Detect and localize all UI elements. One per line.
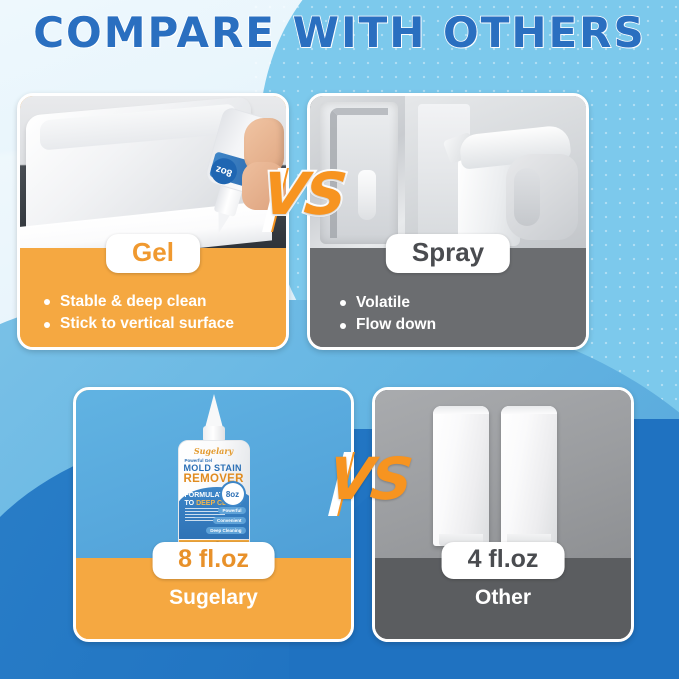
vs-badge-top: VS xyxy=(260,165,347,223)
list-item: Flow down xyxy=(338,314,436,336)
sugelary-photo: Sugelary Powerful Gel MOLD STAIN REMOVER… xyxy=(76,390,351,558)
gel-bullet-list: Stable & deep clean Stick to vertical su… xyxy=(42,291,234,336)
white-tube-shape xyxy=(433,406,489,546)
page-title: COMPARE WITH OTHERS xyxy=(0,8,679,57)
bottle-tip-shape xyxy=(205,394,223,428)
list-item: Stick to vertical surface xyxy=(42,313,234,335)
card-gel: 8oz Gel Stable & deep clean Stick to ver… xyxy=(17,93,289,350)
card-other: 4 fl.oz Other xyxy=(372,387,634,642)
sugelary-brand-label: Sugelary xyxy=(76,586,351,610)
bottle-tag: Convenient xyxy=(213,517,246,524)
bottle-claim-b: TO xyxy=(185,500,195,507)
spray-label-pill: Spray xyxy=(386,234,510,273)
bottle-oz-badge: 8oz xyxy=(222,483,244,505)
card-sugelary: Sugelary Powerful Gel MOLD STAIN REMOVER… xyxy=(73,387,354,642)
bottle-tag: Deep Cleaning xyxy=(206,527,245,534)
liquid-drip-shape xyxy=(358,170,376,220)
gel-photo: 8oz xyxy=(20,96,286,248)
white-tube-shape xyxy=(501,406,557,546)
infographic-stage: COMPARE WITH OTHERS 8oz Gel Stable & dee… xyxy=(0,0,679,679)
other-size-pill: 4 fl.oz xyxy=(442,542,565,579)
bottle-body-shape: Sugelary Powerful Gel MOLD STAIN REMOVER… xyxy=(178,440,250,550)
sugelary-size-pill: 8 fl.oz xyxy=(152,542,275,579)
vs-badge-bottom: VS xyxy=(326,450,413,508)
sugelary-bottle: Sugelary Powerful Gel MOLD STAIN REMOVER… xyxy=(175,394,253,552)
hand-shape xyxy=(506,154,578,240)
bottle-title-line1: MOLD STAIN xyxy=(184,463,242,473)
other-photo xyxy=(375,390,631,558)
other-brand-label: Other xyxy=(375,586,631,610)
spray-photo xyxy=(310,96,586,248)
list-item: Stable & deep clean xyxy=(42,291,234,313)
bottle-brand-script: Sugelary xyxy=(179,446,249,456)
bottle-tag: Powerful xyxy=(218,507,245,514)
card-spray: Spray Volatile Flow down xyxy=(307,93,589,350)
list-item: Volatile xyxy=(338,292,436,314)
gel-label-pill: Gel xyxy=(106,234,200,273)
spray-bullet-list: Volatile Flow down xyxy=(338,292,436,337)
